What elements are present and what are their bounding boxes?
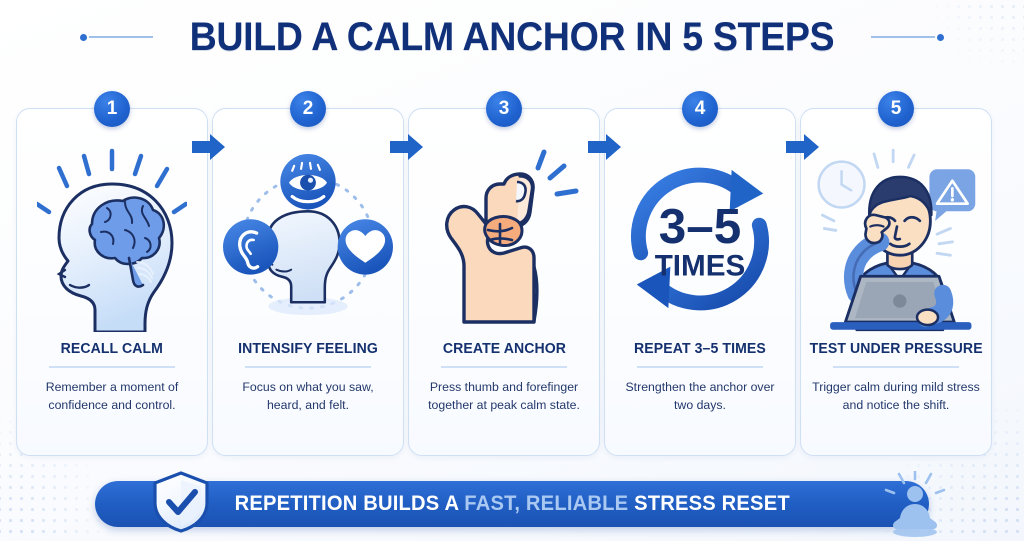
banner-text-before: REPETITION BUILDS A [234, 492, 464, 515]
clock-icon [819, 162, 865, 208]
step-number-badge-1: 1 [94, 91, 130, 127]
banner-text-highlight: FAST, RELIABLE [464, 492, 628, 515]
step-body-3: Press thumb and forefinger together at p… [420, 378, 588, 414]
step-slot-3: 3 [408, 108, 600, 456]
step-body-1: Remember a moment of confidence and cont… [28, 378, 196, 414]
step-heading-4: REPEAT 3–5 TIMES [634, 341, 766, 357]
step-card-2[interactable]: 2 [212, 108, 404, 456]
title-rule-right [871, 34, 944, 41]
step-number-badge-3: 3 [486, 91, 522, 127]
shield-check-icon [152, 471, 210, 533]
flow-arrow-2-icon [390, 132, 424, 162]
step-card-1[interactable]: 1 [16, 108, 208, 456]
step-divider-4 [637, 366, 763, 368]
summary-banner-text: REPETITION BUILDS A FAST, RELIABLE STRES… [234, 492, 789, 516]
banner-text-after: STRESS RESET [628, 492, 790, 515]
page-title: BUILD A CALM ANCHOR IN 5 STEPS [190, 15, 835, 60]
step-slot-1: 1 [16, 108, 208, 456]
steps-row: 1 [16, 108, 1008, 456]
page-header: BUILD A CALM ANCHOR IN 5 STEPS [0, 8, 1024, 66]
step-slot-2: 2 [212, 108, 404, 456]
step-divider-3 [441, 366, 567, 368]
meditating-person-icon [884, 471, 946, 537]
step-slot-4: 4 3–5 TIMES [604, 108, 796, 456]
step-card-3[interactable]: 3 [408, 108, 600, 456]
title-rule-left [80, 34, 153, 41]
step-divider-2 [245, 366, 371, 368]
step-divider-1 [49, 366, 175, 368]
summary-banner[interactable]: REPETITION BUILDS A FAST, RELIABLE STRES… [95, 481, 929, 527]
cycle-arrows-icon: 3–5 TIMES [615, 139, 785, 339]
step-card-4[interactable]: 4 3–5 TIMES [604, 108, 796, 456]
pinching-hand-icon [419, 139, 589, 339]
repeat-count-primary: 3–5 [659, 199, 741, 254]
step-heading-3: CREATE ANCHOR [442, 341, 565, 357]
step-body-5: Trigger calm during mild stress and noti… [812, 378, 980, 414]
flow-arrow-1-icon [192, 132, 226, 162]
warning-badge-icon [929, 169, 975, 221]
step-number-badge-4: 4 [682, 91, 718, 127]
flow-arrow-4-icon [786, 132, 820, 162]
step-heading-2: INTENSIFY FEELING [238, 341, 378, 357]
person-at-laptop-icon [811, 139, 981, 339]
step-divider-5 [833, 366, 959, 368]
infographic-page: BUILD A CALM ANCHOR IN 5 STEPS 1 [0, 0, 1024, 541]
step-body-2: Focus on what you saw, heard, and felt. [224, 378, 392, 414]
senses-eye-ear-heart-icon [223, 139, 393, 339]
decorative-dot-left-icon [80, 34, 87, 41]
step-card-5[interactable]: 5 [800, 108, 992, 456]
step-slot-5: 5 [800, 108, 992, 456]
repeat-count-secondary: TIMES [655, 250, 746, 283]
step-body-4: Strengthen the anchor over two days. [616, 378, 784, 414]
decorative-dot-right-icon [937, 34, 944, 41]
step-number-badge-2: 2 [290, 91, 326, 127]
decorative-line-left [89, 36, 153, 38]
head-with-brain-icon [27, 139, 197, 339]
flow-arrow-3-icon [588, 132, 622, 162]
step-heading-1: RECALL CALM [61, 341, 163, 357]
step-heading-5: TEST UNDER PRESSURE [810, 341, 983, 357]
step-number-badge-5: 5 [878, 91, 914, 127]
decorative-line-right [871, 36, 935, 38]
